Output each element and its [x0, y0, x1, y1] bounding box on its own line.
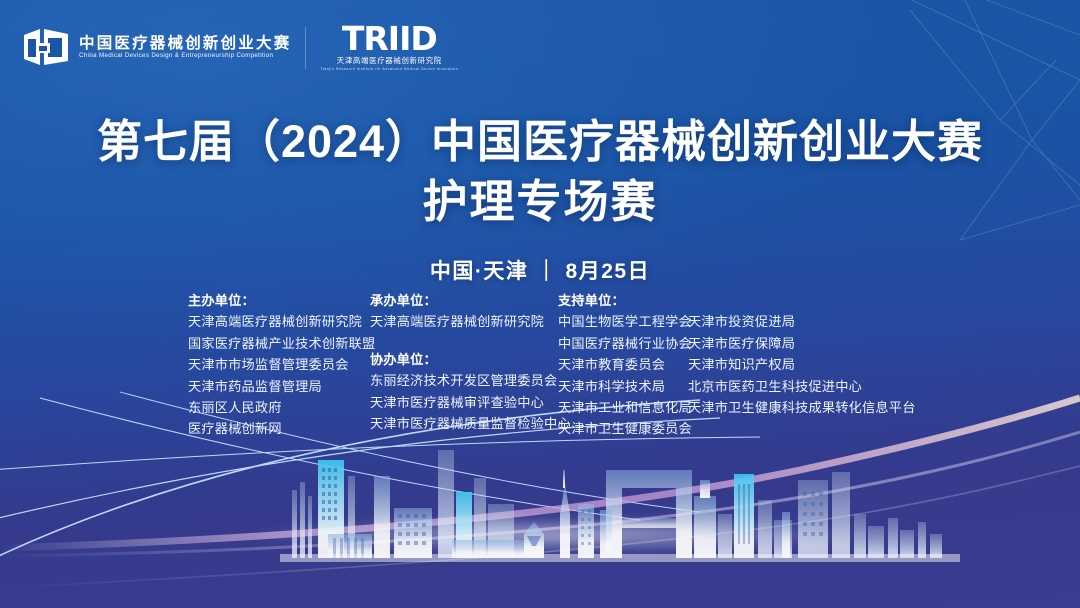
poster-subtitle: 中国·天津 ｜ 8月25日 — [0, 255, 1080, 285]
supporter-item: 天津市医疗保障局 — [688, 333, 898, 354]
open-book-door-logo-icon — [22, 25, 70, 71]
supporter-item: 天津市卫生健康委员会 — [558, 418, 688, 439]
co-organizer-item: 东丽经济技术开发区管理委员会 — [370, 370, 558, 391]
logo-secondary-mark: TRIID — [342, 24, 437, 54]
column-gap — [370, 333, 558, 349]
co-organizer-header: 协办单位： — [370, 349, 558, 370]
supporter-item: 天津市科学技术局 — [558, 376, 688, 397]
host-header: 主办单位： — [188, 290, 370, 311]
organizers-block: 主办单位： 天津高端医疗器械创新研究院 国家医疗器械产业技术创新联盟 天津市市场… — [188, 290, 898, 440]
column-spacer — [688, 290, 898, 311]
host-item: 天津市药品监督管理局 — [188, 376, 370, 397]
header-logos: 中国医疗器械创新创业大赛 China Medical Devices Desig… — [22, 24, 458, 71]
supporter-item: 中国医疗器械行业协会 — [558, 333, 688, 354]
supporter-item: 天津市教育委员会 — [558, 354, 688, 375]
skyline-glow — [250, 517, 870, 553]
supporter-item: 北京市医药卫生科技促进中心 — [688, 376, 898, 397]
organizer-header: 承办单位： — [370, 290, 558, 311]
organizer-item: 天津高端医疗器械创新研究院 — [370, 311, 558, 332]
supporters-sub-column-b: 天津市投资促进局 天津市医疗保障局 天津市知识产权局 北京市医药卫生科技促进中心… — [688, 290, 898, 440]
host-column: 主办单位： 天津高端医疗器械创新研究院 国家医疗器械产业技术创新联盟 天津市市场… — [188, 290, 370, 440]
supporter-item: 天津市知识产权局 — [688, 354, 898, 375]
logo-secondary-cn: 天津高端医疗器械创新研究院 — [337, 57, 442, 64]
poster-title: 第七届（2024）中国医疗器械创新创业大赛 护理专场赛 — [0, 113, 1080, 230]
supporter-item: 天津市工业和信息化局 — [558, 397, 688, 418]
host-item: 东丽区人民政府 — [188, 397, 370, 418]
supporters-sub-column-a: 支持单位： 中国生物医学工程学会 中国医疗器械行业协会 天津市教育委员会 天津市… — [558, 290, 688, 440]
supporter-item: 天津市投资促进局 — [688, 311, 898, 332]
host-item: 医疗器械创新网 — [188, 418, 370, 439]
organizer-column: 承办单位： 天津高端医疗器械创新研究院 协办单位： 东丽经济技术开发区管理委员会… — [370, 290, 558, 434]
host-item: 天津市市场监督管理委员会 — [188, 354, 370, 375]
host-item: 国家医疗器械产业技术创新联盟 — [188, 333, 370, 354]
supporters-header: 支持单位： — [558, 290, 688, 311]
host-item: 天津高端医疗器械创新研究院 — [188, 311, 370, 332]
logo-secondary-en: Tianjin Research Institute for Advanced … — [320, 68, 458, 72]
city-skyline-silhouette-icon — [0, 418, 1080, 608]
logo-primary-cn: 中国医疗器械创新创业大赛 — [79, 36, 291, 52]
co-organizer-item: 天津市医疗器械审评查验中心 — [370, 392, 558, 413]
logo-primary-en: China Medical Devices Design & Entrepren… — [79, 53, 291, 59]
supporter-item: 天津市卫生健康科技成果转化信息平台 — [688, 397, 898, 418]
title-line-2: 护理专场赛 — [0, 173, 1080, 231]
logo-divider — [305, 27, 306, 69]
supporter-item: 中国生物医学工程学会 — [558, 311, 688, 332]
title-line-1: 第七届（2024）中国医疗器械创新创业大赛 — [0, 113, 1080, 171]
logo-primary: 中国医疗器械创新创业大赛 China Medical Devices Desig… — [22, 25, 291, 71]
logo-secondary: TRIID 天津高端医疗器械创新研究院 Tianjin Research Ins… — [320, 24, 458, 71]
poster-banner: 中国医疗器械创新创业大赛 China Medical Devices Desig… — [0, 0, 1080, 608]
supporters-column: 支持单位： 中国生物医学工程学会 中国医疗器械行业协会 天津市教育委员会 天津市… — [558, 290, 898, 440]
co-organizer-item: 天津市医疗器械质量监督检验中心 — [370, 413, 558, 434]
